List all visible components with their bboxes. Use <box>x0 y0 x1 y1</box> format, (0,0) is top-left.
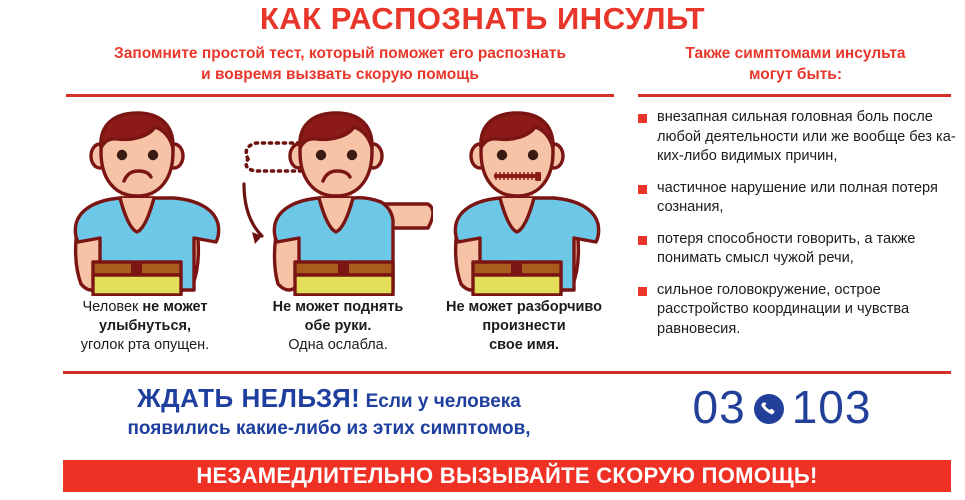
symptom-text: сильное головокружение, острое расстройс… <box>657 281 956 340</box>
right-eye-icon <box>148 150 158 160</box>
left-subheading-line-1: Запомните простой тест, который поможет … <box>55 43 625 64</box>
stroke-recognition-poster: КАК РАСПОЗНАТЬ ИНСУЛЬТ Запомните простой… <box>0 0 965 500</box>
symptom-text: внезапная сильная головная боль после лю… <box>657 108 956 167</box>
left-subheading-line-2: и вовремя вызвать скорую помощь <box>55 64 625 85</box>
phone-number-03[interactable]: 03 <box>693 384 746 430</box>
phone-number-103[interactable]: 103 <box>792 384 872 430</box>
bullet-square-icon <box>638 236 647 245</box>
figure-cannot-smile <box>58 104 233 301</box>
bullet-square-icon <box>638 287 647 296</box>
right-subheading: Также симптомами инсульта могут быть: <box>638 43 953 85</box>
page-title: КАК РАСПОЗНАТЬ ИНСУЛЬТ <box>0 2 965 36</box>
caption-3-part-c: свое имя. <box>489 337 559 353</box>
call-to-action-text: ЖДАТЬ НЕЛЬЗЯ! Если у человека появились … <box>64 385 594 442</box>
caption-1-part-a: Человек <box>82 299 142 315</box>
caption-3-part-b: произнести <box>482 318 565 334</box>
caption-2-part-a: Не может поднять <box>273 299 404 315</box>
cta-emphasis: ЖДАТЬ НЕЛЬЗЯ! <box>137 383 360 413</box>
figures-group <box>0 104 620 299</box>
right-eye-icon <box>347 150 357 160</box>
caption-2-part-c: Одна ослабла. <box>288 337 388 353</box>
emergency-phone-numbers[interactable]: 03 103 <box>612 378 952 436</box>
caption-cannot-smile: Человек не может улыбнуться, уголок рта … <box>42 298 248 355</box>
right-eye-icon <box>528 150 538 160</box>
caption-cannot-speak: Не может разборчиво произнести свое имя. <box>424 298 624 355</box>
right-subheading-line-2: могут быть: <box>638 64 953 85</box>
man-cannot-smile-illustration <box>58 104 233 296</box>
left-eye-icon <box>117 150 127 160</box>
caption-1-part-b: не может <box>142 299 207 315</box>
divider-left <box>66 94 614 97</box>
list-item: сильное головокружение, острое расстройс… <box>638 281 956 340</box>
divider-middle <box>63 371 951 374</box>
left-eye-icon <box>497 150 507 160</box>
divider-right <box>638 94 951 97</box>
caption-3-part-a: Не может разборчиво <box>446 299 602 315</box>
caption-1-part-d: уголок рта опущен. <box>81 337 209 353</box>
list-item: внезапная сильная головная боль после лю… <box>638 108 956 167</box>
cta-line-1-rest: Если у человека <box>360 391 521 412</box>
caption-2-part-b: обе руки. <box>305 318 372 334</box>
symptoms-list: внезапная сильная головная боль после лю… <box>638 108 956 351</box>
bullet-square-icon <box>638 114 647 123</box>
emergency-banner: НЕЗАМЕДЛИТЕЛЬНО ВЫЗЫВАЙТЕ СКОРУЮ ПОМОЩЬ! <box>63 460 951 492</box>
symptom-text: потеря способности говорить, а также пон… <box>657 230 956 269</box>
cta-line-2: появились какие-либо из этих симптомов, <box>127 418 530 439</box>
figure-cannot-speak <box>438 104 613 301</box>
bullet-square-icon <box>638 185 647 194</box>
man-cannot-raise-arms-illustration <box>238 104 433 296</box>
figure-cannot-raise-arms <box>238 104 433 301</box>
list-item: потеря способности говорить, а также пон… <box>638 230 956 269</box>
caption-1-part-c: улыбнуться, <box>99 318 191 334</box>
left-eye-icon <box>316 150 326 160</box>
left-subheading: Запомните простой тест, который поможет … <box>55 43 625 85</box>
phone-receiver-icon <box>754 394 784 424</box>
emergency-banner-text: НЕЗАМЕДЛИТЕЛЬНО ВЫЗЫВАЙТЕ СКОРУЮ ПОМОЩЬ! <box>196 463 817 489</box>
man-cannot-speak-illustration <box>438 104 613 296</box>
down-arrow-icon <box>244 184 262 244</box>
right-subheading-line-1: Также симптомами инсульта <box>638 43 953 64</box>
caption-cannot-raise-arms: Не может поднять обе руки. Одна ослабла. <box>243 298 433 355</box>
list-item: частичное нарушение или полная потеря со… <box>638 179 956 218</box>
symptom-text: частичное нарушение или полная потеря со… <box>657 179 956 218</box>
